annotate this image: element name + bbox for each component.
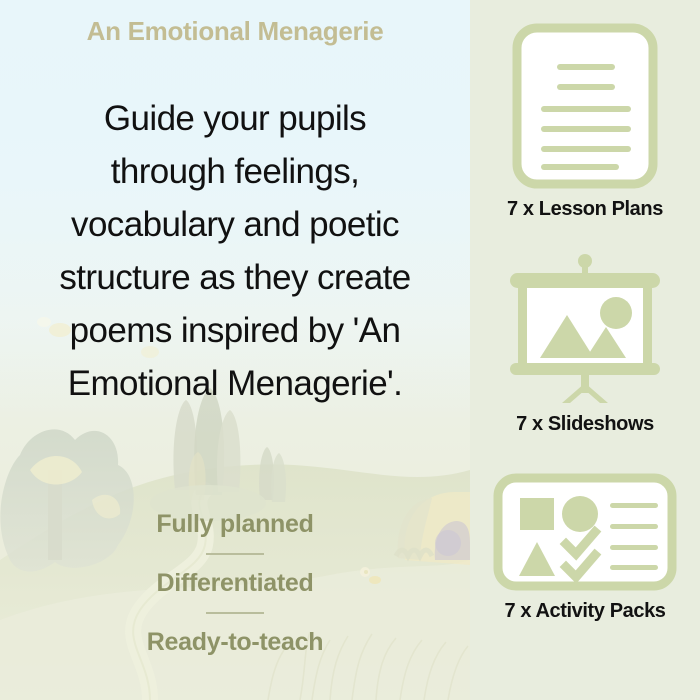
body-line: vocabulary and poetic: [16, 198, 454, 251]
presentation-screen-icon: [494, 253, 676, 405]
feature-ready-to-teach: Ready-to-teach: [0, 622, 470, 662]
activity-card-icon: [492, 472, 678, 592]
feature-differentiated: Differentiated: [0, 563, 470, 603]
poster-root: An Emotional Menagerie Guide your pupils…: [0, 0, 700, 700]
feature-list: Fully planned Differentiated Ready-to-te…: [0, 504, 470, 662]
document-icon: [511, 22, 659, 190]
asset-label-slideshows: 7 x Slideshows: [516, 413, 654, 436]
body-line: Guide your pupils: [16, 92, 454, 145]
asset-activity-packs: 7 x Activity Packs: [470, 472, 700, 623]
left-panel: An Emotional Menagerie Guide your pupils…: [0, 0, 470, 700]
asset-label-activity-packs: 7 x Activity Packs: [504, 600, 665, 623]
body-line: structure as they create: [16, 251, 454, 304]
feature-divider: [206, 612, 264, 614]
asset-slideshows: 7 x Slideshows: [470, 253, 700, 436]
body-copy: Guide your pupils through feelings, voca…: [16, 92, 454, 410]
body-line: poems inspired by 'An: [16, 304, 454, 357]
asset-lesson-plans: 7 x Lesson Plans: [470, 22, 700, 221]
body-line: Emotional Menagerie'.: [16, 357, 454, 410]
feature-divider: [206, 553, 264, 555]
asset-label-lesson-plans: 7 x Lesson Plans: [507, 198, 663, 221]
body-line: through feelings,: [16, 145, 454, 198]
feature-fully-planned: Fully planned: [0, 504, 470, 544]
assets-panel: 7 x Lesson Plans: [470, 0, 700, 700]
page-title: An Emotional Menagerie: [0, 16, 470, 47]
